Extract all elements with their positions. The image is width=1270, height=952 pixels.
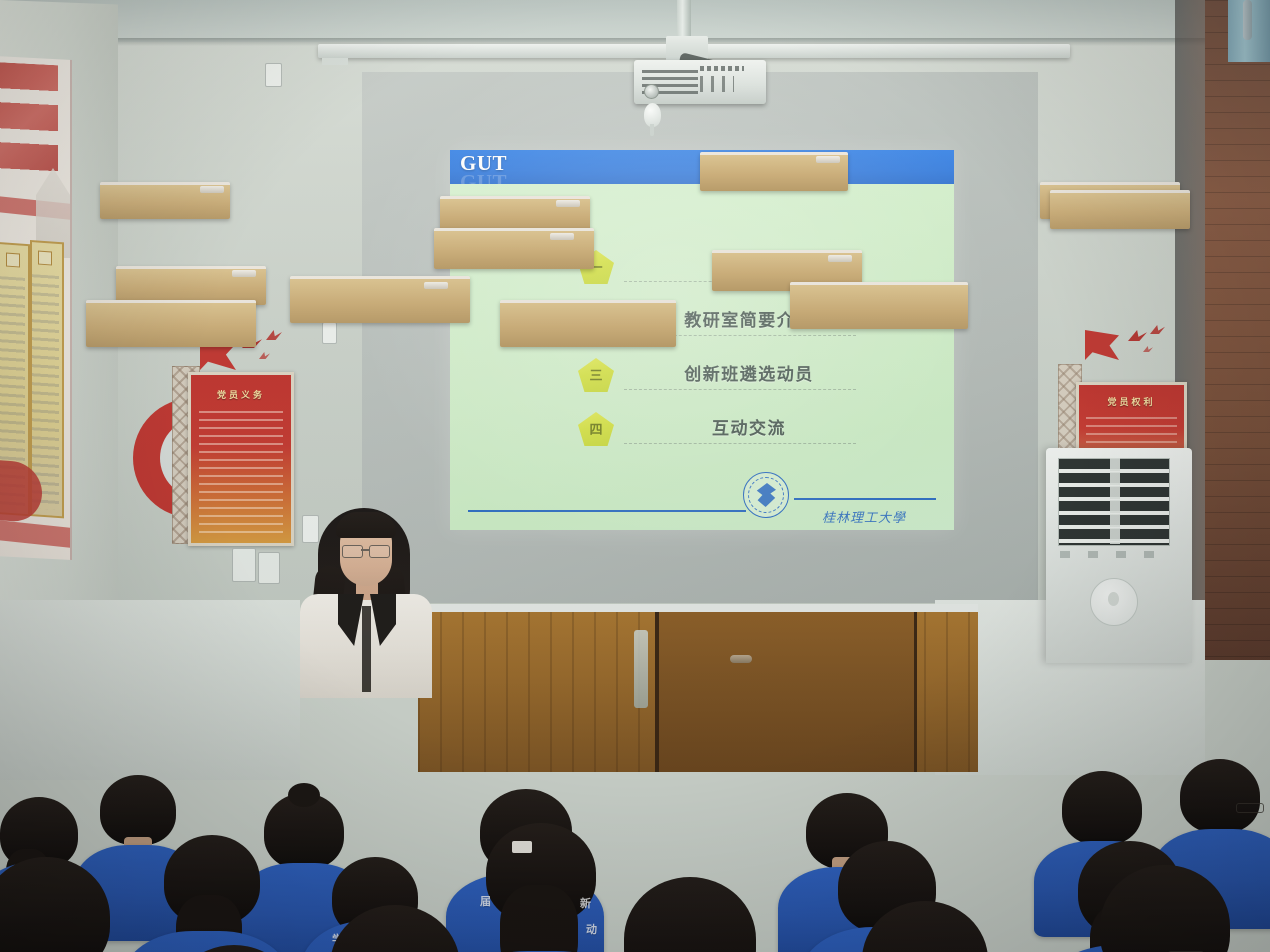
air-conditioner-label xyxy=(1060,551,1168,558)
uniform-back-text: 新 xyxy=(580,895,593,911)
back-wall-left xyxy=(0,600,300,780)
poster-left-title: 党员义务 xyxy=(191,388,291,401)
ceiling-pipe xyxy=(1243,0,1252,40)
door-frame-plate xyxy=(634,630,648,708)
uniform-back-text: 届 xyxy=(480,893,493,909)
door-handle[interactable] xyxy=(730,655,752,663)
classroom-door[interactable] xyxy=(655,612,917,772)
plumb-tip xyxy=(650,124,654,136)
wall-switch[interactable] xyxy=(302,515,319,543)
poster-left-text-lines xyxy=(199,411,283,535)
projector-lens xyxy=(644,84,659,99)
air-conditioner-dial-mark xyxy=(1108,592,1119,606)
hair-clip xyxy=(512,841,532,853)
panel-icon xyxy=(6,253,20,268)
student-head xyxy=(624,877,756,952)
uniform-back-text: 动 xyxy=(586,921,599,937)
slide-footer-rule-left xyxy=(468,510,746,512)
presenter-placket xyxy=(362,606,371,692)
glasses-icon xyxy=(1236,803,1264,813)
pentagon-marker-icon: 四 xyxy=(578,412,614,446)
panel-icon xyxy=(38,251,52,266)
glasses-icon xyxy=(369,545,390,558)
left-board-title-banner xyxy=(0,62,58,183)
university-name: 桂林理工大學 xyxy=(794,507,934,526)
student-hair-bun xyxy=(288,783,320,807)
agenda-underline xyxy=(624,389,856,390)
glasses-bridge xyxy=(361,549,369,551)
projector-buttons[interactable] xyxy=(700,76,734,92)
poster-party-obligations: 党员义务 xyxy=(188,372,294,546)
screen-roller-cap xyxy=(322,58,348,65)
pentagon-number: 四 xyxy=(589,424,602,437)
air-conditioner-vent-tabs xyxy=(1110,458,1120,544)
agenda-item-label: 创新班遴选动员 xyxy=(640,360,858,385)
student-ponytail xyxy=(500,885,578,952)
projector-label xyxy=(700,66,744,71)
wall-switch[interactable] xyxy=(265,63,282,87)
wall-switch[interactable] xyxy=(322,322,337,344)
pentagon-number: 三 xyxy=(589,370,602,383)
wall-outlet[interactable] xyxy=(232,548,256,582)
presenter-bangs xyxy=(336,512,396,538)
poster-right-title: 党员权利 xyxy=(1079,395,1184,408)
poster-right-text-lines xyxy=(1086,417,1177,451)
classroom-presentation-scene: 党员义务 党员权利 GUT GUT 一 专业 xyxy=(0,0,1270,952)
pentagon-marker-icon: 三 xyxy=(578,358,614,392)
glasses-icon xyxy=(342,545,363,558)
slide-logo-gut-reflection: GUT xyxy=(460,170,507,184)
student-head xyxy=(1062,771,1142,845)
wall-outlet[interactable] xyxy=(258,552,280,584)
slide-footer-rule-right xyxy=(794,498,936,500)
agenda-item: 四 互动交流 xyxy=(578,408,868,458)
ceiling xyxy=(0,0,1270,42)
agenda-item: 三 创新班遴选动员 xyxy=(578,354,868,404)
student-head xyxy=(1180,759,1260,833)
agenda-underline xyxy=(624,443,856,444)
university-seal-icon xyxy=(743,472,789,518)
brick-texture xyxy=(1205,0,1270,660)
agenda-item-label: 互动交流 xyxy=(640,414,858,439)
student-head xyxy=(100,775,176,845)
